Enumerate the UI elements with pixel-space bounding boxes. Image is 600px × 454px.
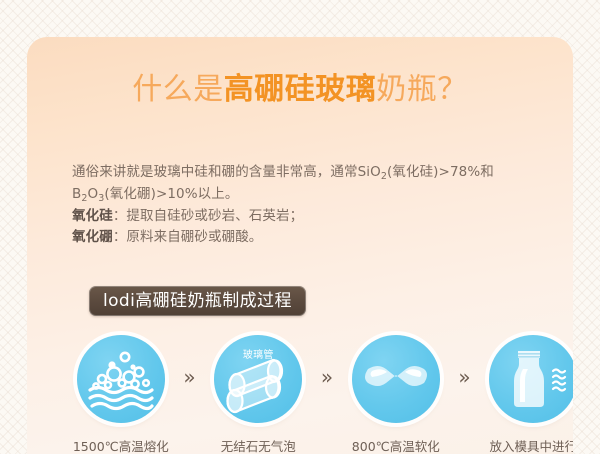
process-step-1: 1500℃高温熔化 xyxy=(65,335,177,454)
definition-boron: 氧化硼：原料来自硼砂或硼酸。 xyxy=(72,227,573,248)
content-card: 什么是高硼硅玻璃奶瓶？ 通俗来讲就是玻璃中硅和硼的含量非常高，通常SiO2(氧化… xyxy=(27,37,573,454)
glass-bottle-icon xyxy=(495,341,571,417)
step-2-circle: 玻璃管 xyxy=(214,335,302,423)
definition-silica-label: 氧化硅 xyxy=(72,208,113,224)
definition-boron-label: 氧化硼 xyxy=(72,229,113,245)
step-arrow-3: » xyxy=(452,367,478,387)
step-4-circle xyxy=(489,335,573,423)
step-arrow-1: » xyxy=(177,367,203,387)
paragraph-line-1: 通俗来讲就是玻璃中硅和硼的含量非常高，通常SiO2(氧化硅)>78%和 xyxy=(72,164,494,180)
step-4-caption: 放入模具中进行 人工吹制成形 xyxy=(489,439,573,454)
definition-boron-text: ：原料来自硼砂或硼酸。 xyxy=(113,229,263,245)
process-step-4: 放入模具中进行 人工吹制成形 xyxy=(477,335,573,454)
sio2-subscript: 2 xyxy=(381,171,387,182)
intro-paragraph: 通俗来讲就是玻璃中硅和硼的含量非常高，通常SiO2(氧化硅)>78%和B2O3(… xyxy=(72,162,573,248)
step-arrow-2: » xyxy=(314,367,340,387)
b2o3-o: O xyxy=(88,186,99,202)
b2o3-b: B xyxy=(72,186,81,202)
step-3-caption: 800℃高温软化 xyxy=(352,439,440,454)
page-title: 什么是高硼硅玻璃奶瓶？ xyxy=(27,73,573,107)
page-background: 什么是高硼硅玻璃奶瓶？ 通俗来讲就是玻璃中硅和硼的含量非常高，通常SiO2(氧化… xyxy=(0,0,600,454)
step-2-caption: 无结石无气泡 均匀成型 xyxy=(221,439,296,454)
title-part-1: 什么是 xyxy=(132,72,224,107)
b2o3-subscript-3: 3 xyxy=(98,193,104,204)
title-part-2: 奶瓶？ xyxy=(376,72,468,107)
process-banner: lodi高硼硅奶瓶制成过程 xyxy=(89,286,306,316)
step-1-caption: 1500℃高温熔化 xyxy=(73,439,169,454)
process-steps: 1500℃高温熔化 » 玻璃管 xyxy=(65,335,573,454)
title-highlight: 高硼硅玻璃 xyxy=(224,72,377,107)
softened-glass-icon xyxy=(358,341,434,417)
process-step-3: 800℃高温软化 xyxy=(340,335,452,454)
process-banner-label: lodi高硼硅奶瓶制成过程 xyxy=(103,293,292,310)
step-1-circle xyxy=(77,335,165,423)
b2o3-subscript-2: 2 xyxy=(81,193,87,204)
bubbles-waves-icon xyxy=(85,343,157,415)
process-step-2: 玻璃管 xyxy=(202,335,314,454)
step-3-circle xyxy=(352,335,440,423)
paragraph-line-2-text: (氧化硼)>10%以上。 xyxy=(104,186,238,202)
step-2-inner-label: 玻璃管 xyxy=(214,346,302,361)
paragraph-line-2: B2O3(氧化硼)>10%以上。 xyxy=(72,184,573,206)
paragraph-line-1-text-b: (氧化硅)>78%和 xyxy=(387,164,494,180)
paragraph-line-1-text-a: 通俗来讲就是玻璃中硅和硼的含量非常高，通常SiO xyxy=(72,164,381,180)
definition-silica-text: ：提取自硅砂或砂岩、石英岩； xyxy=(113,208,303,224)
definition-silica: 氧化硅：提取自硅砂或砂岩、石英岩； xyxy=(72,206,573,227)
